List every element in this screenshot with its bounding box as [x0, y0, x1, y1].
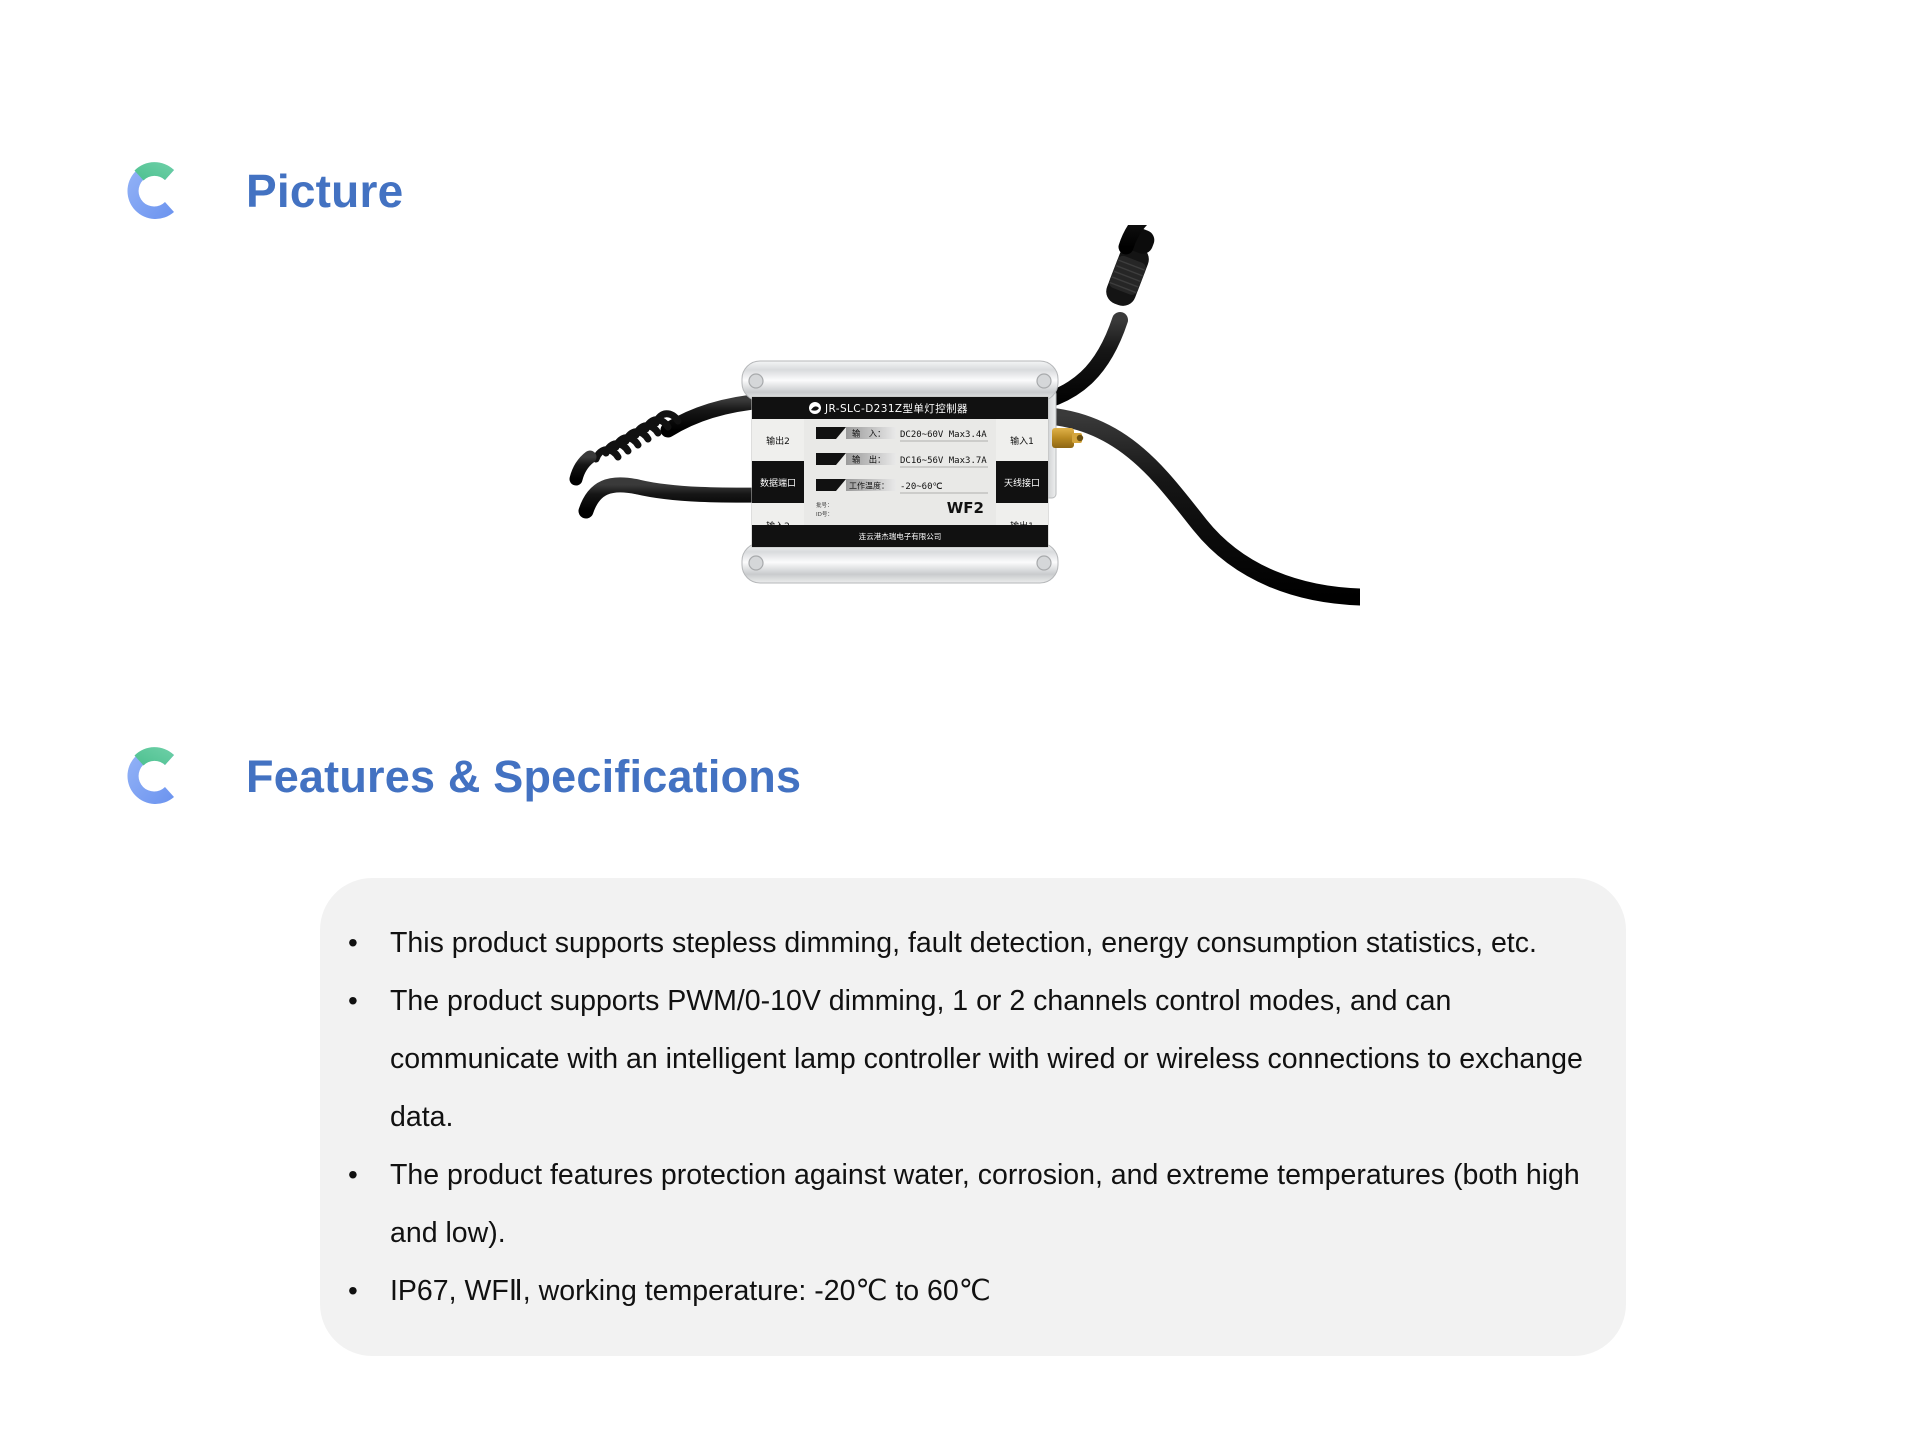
svg-text:连云港杰瑞电子有限公司: 连云港杰瑞电子有限公司 — [859, 531, 942, 541]
list-item-text: IP67, WFⅡ, working temperature: -20℃ to … — [390, 1262, 991, 1320]
list-item-text: The product features protection against … — [390, 1146, 1605, 1262]
svg-text:WF2: WF2 — [947, 499, 984, 517]
slide-page: Picture — [0, 0, 1920, 1440]
brand-c-icon — [120, 735, 186, 817]
svg-text:DC20~60V Max3.4A: DC20~60V Max3.4A — [900, 430, 987, 440]
svg-text:输 入：: 输 入： — [852, 429, 886, 439]
svg-text:天线接口: 天线接口 — [1004, 477, 1040, 489]
list-item: • This product supports stepless dimming… — [344, 914, 1616, 972]
svg-text:-20~60℃: -20~60℃ — [900, 482, 943, 492]
svg-text:工作温度：: 工作温度： — [849, 481, 889, 491]
svg-text:ID号：: ID号： — [816, 511, 833, 518]
section-header-picture: Picture — [120, 150, 403, 232]
svg-text:输出2: 输出2 — [766, 435, 790, 447]
list-item-text: The product supports PWM/0-10V dimming, … — [390, 972, 1605, 1146]
svg-text:数据端口: 数据端口 — [760, 477, 796, 489]
svg-text:输入1: 输入1 — [1010, 435, 1034, 447]
page-title-picture: Picture — [246, 168, 403, 214]
product-photo: JR-SLC-D231Z型单灯控制器 输出2 数据端口 输入2 输入1 天线接口… — [560, 225, 1360, 645]
bullet-icon: • — [344, 1146, 390, 1204]
features-bullet-list: • This product supports stepless dimming… — [344, 914, 1616, 1320]
list-item-text: This product supports stepless dimming, … — [390, 914, 1537, 972]
bullet-icon: • — [344, 914, 390, 972]
device-label-title: JR-SLC-D231Z型单灯控制器 — [824, 402, 968, 415]
page-title-features: Features & Specifications — [246, 754, 801, 799]
svg-text:DC16~56V Max3.7A: DC16~56V Max3.7A — [900, 456, 987, 466]
section-header-features: Features & Specifications — [120, 735, 801, 817]
list-item: • The product supports PWM/0-10V dimming… — [344, 972, 1616, 1146]
bullet-icon: • — [344, 972, 390, 1030]
features-panel: • This product supports stepless dimming… — [320, 878, 1626, 1356]
list-item: • The product features protection agains… — [344, 1146, 1616, 1262]
brand-c-icon — [120, 150, 186, 232]
svg-text:输 出：: 输 出： — [852, 455, 886, 465]
svg-text:批号：: 批号： — [816, 501, 833, 509]
bullet-icon: • — [344, 1262, 390, 1320]
list-item: • IP67, WFⅡ, working temperature: -20℃ t… — [344, 1262, 1616, 1320]
